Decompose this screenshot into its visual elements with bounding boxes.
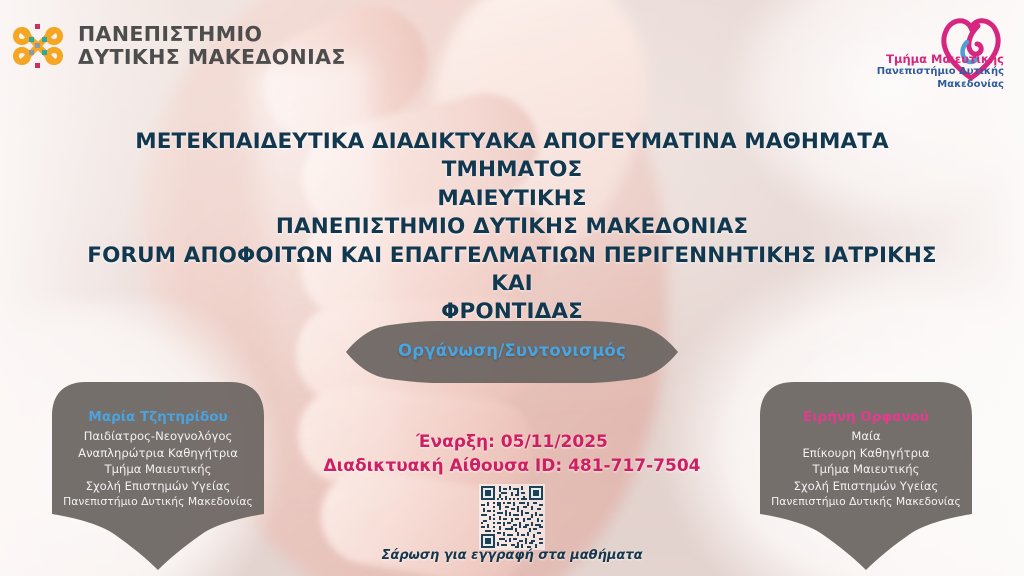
speaker-name: Μαρία Τζητηρίδου: [52, 408, 264, 427]
uowm-knot-icon: [10, 18, 66, 74]
university-logo: ΠΑΝΕΠΙΣΤΗΜΙΟ ΔΥΤΙΚΗΣ ΜΑΚΕΔΟΝΙΑΣ: [10, 18, 346, 74]
title-line: FORUM ΑΠΟΦΟΙΤΩΝ ΚΑΙ ΕΠΑΓΓΕΛΜΑΤΙΩΝ ΠΕΡΙΓΕ…: [72, 242, 952, 299]
speaker-line: Πανεπιστήμιο Δυτικής Μακεδονίας: [52, 494, 264, 509]
title-line: ΠΑΝΕΠΙΣΤΗΜΙΟ ΔΥΤΙΚΗΣ ΜΑΚΕΔΟΝΙΑΣ: [72, 213, 952, 241]
university-logo-line2: ΔΥΤΙΚΗΣ ΜΑΚΕΔΟΝΙΑΣ: [78, 45, 346, 69]
speaker-line: Μαία: [760, 428, 972, 444]
speaker-card-left: Μαρία Τζητηρίδου Παιδίατρος-Νεογνολόγος …: [52, 382, 264, 570]
speaker-line: Αναπληρώτρια Καθηγήτρια: [52, 445, 264, 461]
speaker-line: Πανεπιστήμιο Δυτικής Μακεδονίας: [760, 494, 972, 509]
university-logo-line1: ΠΑΝΕΠΙΣΤΗΜΙΟ: [78, 22, 262, 46]
speaker-line: Παιδίατρος-Νεογνολόγος: [52, 428, 264, 444]
speaker-line: Σχολή Επιστημών Υγείας: [52, 478, 264, 494]
qr-caption: Σάρωση για εγγραφή στα μαθήματα: [262, 548, 762, 563]
speaker-name: Ειρήνη Ορφανού: [760, 408, 972, 427]
title-line: ΜΕΤΕΚΠΑΙΔΕΥΤΙΚΑ ΔΙΑΔΙΚΤΥΑΚΑ ΑΠΟΓΕΥΜΑΤΙΝΑ…: [72, 128, 952, 185]
speaker-card-right-body: Ειρήνη Ορφανού Μαία Επίκουρη Καθηγήτρια …: [760, 408, 972, 509]
department-logo: Τμήμα Μαιευτικής Πανεπιστήμιο Δυτικής Μα…: [818, 8, 1010, 100]
poster: ΠΑΝΕΠΙΣΤΗΜΙΟ ΔΥΤΙΚΗΣ ΜΑΚΕΔΟΝΙΑΣ Τμήμα Μα…: [0, 0, 1024, 576]
organisation-ribbon-label: Οργάνωση/Συντονισμός: [346, 341, 678, 360]
speaker-line: Σχολή Επιστημών Υγείας: [760, 478, 972, 494]
department-logo-line2: Πανεπιστήμιο Δυτικής Μακεδονίας: [818, 66, 1004, 91]
university-logo-text: ΠΑΝΕΠΙΣΤΗΜΙΟ ΔΥΤΙΚΗΣ ΜΑΚΕΔΟΝΙΑΣ: [78, 23, 346, 69]
speaker-line: Επίκουρη Καθηγήτρια: [760, 445, 972, 461]
speaker-card-left-body: Μαρία Τζητηρίδου Παιδίατρος-Νεογνολόγος …: [52, 408, 264, 509]
event-room-id: Διαδικτυακή Αίθουσα ID: 481-717-7504: [262, 454, 762, 478]
speaker-line: Τμήμα Μαιευτικής: [760, 461, 972, 477]
speaker-line: Τμήμα Μαιευτικής: [52, 461, 264, 477]
speaker-card-right: Ειρήνη Ορφανού Μαία Επίκουρη Καθηγήτρια …: [760, 382, 972, 570]
department-logo-line1: Τμήμα Μαιευτικής: [818, 52, 1004, 66]
title-line: ΜΑΙΕΥΤΙΚΗΣ: [72, 185, 952, 213]
poster-title: ΜΕΤΕΚΠΑΙΔΕΥΤΙΚΑ ΔΙΑΔΙΚΤΥΑΚΑ ΑΠΟΓΕΥΜΑΤΙΝΑ…: [72, 128, 952, 327]
event-details: Έναρξη: 05/11/2025 Διαδικτυακή Αίθουσα I…: [262, 430, 762, 478]
organisation-ribbon: Οργάνωση/Συντονισμός: [346, 319, 678, 385]
department-logo-text: Τμήμα Μαιευτικής Πανεπιστήμιο Δυτικής Μα…: [818, 52, 1004, 91]
event-start-date: Έναρξη: 05/11/2025: [262, 430, 762, 454]
qr-code-icon[interactable]: [479, 484, 545, 550]
